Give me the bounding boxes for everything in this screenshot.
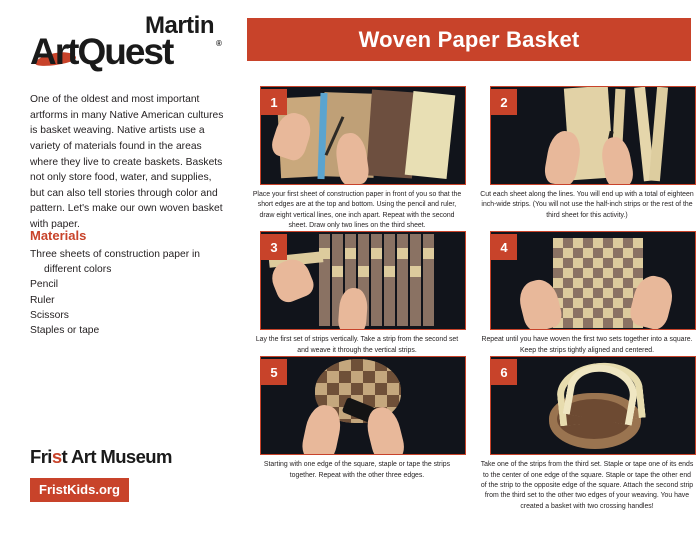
woven-cell: [613, 268, 623, 278]
woven-cell: [613, 308, 623, 318]
woven-cell: [573, 318, 583, 328]
woven-cell: [633, 268, 643, 278]
woven-cell: [623, 278, 633, 288]
woven-cell: [553, 248, 563, 258]
woven-cell: [583, 258, 593, 268]
step-number-badge: 1: [261, 89, 287, 115]
horizontal-paper-strip: [319, 266, 330, 277]
horizontal-paper-strip: [345, 248, 356, 259]
woven-cell: [363, 371, 375, 383]
museum-name-accent: s: [52, 446, 62, 467]
museum-name-part2: t Art Museum: [62, 446, 172, 467]
woven-cell: [613, 288, 623, 298]
woven-cell: [583, 268, 593, 278]
woven-cell: [583, 238, 593, 248]
woven-cell: [375, 395, 387, 407]
woven-cell: [375, 371, 387, 383]
woven-cell: [633, 258, 643, 268]
woven-cell: [633, 238, 643, 248]
photo-scene-2: [491, 87, 695, 184]
woven-cell: [623, 238, 633, 248]
woven-cell: [327, 359, 339, 371]
woven-cell: [387, 395, 399, 407]
woven-cell: [593, 248, 603, 258]
horizontal-paper-strip: [332, 266, 343, 277]
horizontal-paper-strip: [358, 266, 369, 277]
woven-cell: [593, 288, 603, 298]
woven-cell: [613, 318, 623, 328]
paper-sheet: [405, 91, 456, 179]
woven-cell: [351, 359, 363, 371]
logo-artquest-wrap: ArtQuest ®: [30, 33, 230, 73]
woven-cell: [363, 383, 375, 395]
horizontal-paper-strip: [371, 248, 382, 259]
hand: [337, 288, 368, 331]
step-card-3: 3 Lay the first set of strips vertically…: [246, 231, 468, 356]
woven-cell: [387, 371, 399, 383]
activity-sheet: Martin ArtQuest ® One of the oldest and …: [0, 0, 700, 541]
step-caption: Starting with one edge of the square, st…: [250, 460, 464, 481]
woven-cell: [553, 268, 563, 278]
horizontal-paper-strip: [332, 248, 343, 259]
photo-scene-1: [261, 87, 465, 184]
woven-cell: [563, 278, 573, 288]
horizontal-paper-strip: [397, 266, 408, 277]
horizontal-paper-strip: [384, 248, 395, 259]
material-item: different colors: [30, 262, 225, 277]
woven-cell: [375, 359, 387, 371]
step-photo-2: 2: [490, 86, 696, 185]
woven-cell: [363, 359, 375, 371]
photo-scene-5: [261, 357, 465, 454]
material-item: Ruler: [30, 293, 225, 308]
woven-cell: [613, 238, 623, 248]
material-item: Staples or tape: [30, 323, 225, 338]
woven-cell: [573, 248, 583, 258]
woven-cell: [339, 383, 351, 395]
woven-cell: [563, 268, 573, 278]
step-caption: Take one of the strips from the third se…: [480, 460, 694, 512]
woven-cell: [563, 298, 573, 308]
step-caption: Lay the first set of strips vertically. …: [250, 335, 464, 356]
page-title: Woven Paper Basket: [247, 18, 691, 61]
woven-cell: [573, 238, 583, 248]
woven-cell: [623, 258, 633, 268]
woven-cell: [593, 308, 603, 318]
woven-cell: [399, 371, 401, 383]
intro-paragraph: One of the oldest and most important art…: [30, 92, 225, 233]
woven-cell: [603, 278, 613, 288]
horizontal-paper-strip: [423, 248, 434, 259]
woven-cell: [583, 318, 593, 328]
materials-list: Three sheets of construction paper in di…: [30, 247, 225, 338]
woven-cell: [613, 258, 623, 268]
woven-cell: [553, 238, 563, 248]
fristkids-url-badge[interactable]: FristKids.org: [30, 478, 129, 502]
left-column: Martin ArtQuest ® One of the oldest and …: [0, 0, 240, 541]
step-photo-1: 1: [260, 86, 466, 185]
step-number-badge: 3: [261, 234, 287, 260]
steps-grid: 1 Place your first sheet of const: [246, 86, 700, 512]
woven-cell: [613, 278, 623, 288]
woven-cell: [603, 288, 613, 298]
woven-cell: [583, 248, 593, 258]
step-photo-5: 5: [260, 356, 466, 455]
woven-cell: [583, 298, 593, 308]
woven-cell: [613, 298, 623, 308]
horizontal-paper-strip: [358, 248, 369, 259]
woven-cell: [553, 278, 563, 288]
woven-cell: [573, 278, 583, 288]
registered-trademark-icon: ®: [216, 39, 222, 48]
woven-cell: [351, 371, 363, 383]
woven-cell: [387, 359, 399, 371]
woven-cell: [339, 419, 351, 423]
woven-cell: [573, 298, 583, 308]
woven-cell: [593, 268, 603, 278]
woven-cell: [623, 268, 633, 278]
step-row: 1 Place your first sheet of const: [246, 86, 700, 231]
woven-cell: [399, 419, 401, 423]
step-card-6: 6 Take one of the strips from the third …: [476, 356, 698, 512]
woven-cell: [603, 308, 613, 318]
horizontal-paper-strip: [345, 266, 356, 277]
woven-cell: [603, 238, 613, 248]
materials-heading: Materials: [30, 228, 86, 243]
woven-cell: [563, 318, 573, 328]
woven-cell: [603, 318, 613, 328]
horizontal-paper-strip: [423, 266, 434, 277]
horizontal-paper-strip: [371, 266, 382, 277]
woven-cell: [563, 308, 573, 318]
woven-cell: [633, 248, 643, 258]
woven-cell: [399, 395, 401, 407]
woven-cell: [563, 288, 573, 298]
woven-cell: [593, 238, 603, 248]
step-row: 5 Starting with one edge of the square, …: [246, 356, 700, 512]
horizontal-paper-strip: [410, 248, 421, 259]
photo-scene-6: [491, 357, 695, 454]
woven-cell: [399, 383, 401, 395]
horizontal-paper-strip: [384, 266, 395, 277]
step-number-badge: 6: [491, 359, 517, 385]
woven-cell: [327, 383, 339, 395]
woven-cell: [563, 238, 573, 248]
woven-cell: [603, 298, 613, 308]
paper-strip: [649, 87, 668, 182]
material-item: Pencil: [30, 277, 225, 292]
museum-name-part1: Fri: [30, 446, 52, 467]
woven-cell: [593, 278, 603, 288]
woven-cell: [583, 288, 593, 298]
woven-cell: [563, 258, 573, 268]
woven-cell: [399, 359, 401, 371]
woven-cell: [593, 258, 603, 268]
woven-cell: [315, 371, 327, 383]
woven-cell: [603, 258, 613, 268]
photo-scene-4: [491, 232, 695, 329]
material-item: Scissors: [30, 308, 225, 323]
step-card-5: 5 Starting with one edge of the square, …: [246, 356, 468, 512]
woven-cell: [573, 268, 583, 278]
martin-artquest-logo: Martin ArtQuest ®: [30, 14, 230, 76]
step-number-badge: 4: [491, 234, 517, 260]
woven-cell: [583, 308, 593, 318]
step-card-2: 2 Cut each sheet along the lines. You wi…: [476, 86, 698, 231]
material-item: Three sheets of construction paper in: [30, 247, 225, 262]
step-photo-4: 4: [490, 231, 696, 330]
step-row: 3 Lay the first set of strips vertically…: [246, 231, 700, 356]
woven-cell: [593, 298, 603, 308]
photo-scene-3: [261, 232, 465, 329]
woven-cell: [623, 248, 633, 258]
step-caption: Cut each sheet along the lines. You will…: [480, 190, 694, 221]
woven-cell: [603, 268, 613, 278]
woven-cell: [593, 318, 603, 328]
woven-cell: [573, 288, 583, 298]
step-caption: Repeat until you have woven the first tw…: [480, 335, 694, 356]
step-card-4: 4 Repeat until you have woven the first …: [476, 231, 698, 356]
logo-word-artquest: ArtQuest: [30, 33, 172, 72]
woven-cell: [315, 383, 327, 395]
woven-cell: [339, 359, 351, 371]
woven-cell: [563, 248, 573, 258]
woven-cell: [553, 258, 563, 268]
woven-cell: [387, 383, 399, 395]
step-caption: Place your first sheet of construction p…: [250, 190, 464, 231]
horizontal-paper-strip: [410, 266, 421, 277]
horizontal-paper-strip: [397, 248, 408, 259]
right-column: Woven Paper Basket 1: [246, 0, 700, 541]
woven-cell: [399, 407, 401, 419]
woven-cell: [351, 383, 363, 395]
frist-art-museum-logo: Frist Art Museum: [30, 448, 172, 467]
woven-cell: [573, 258, 583, 268]
step-card-1: 1 Place your first sheet of const: [246, 86, 468, 231]
step-number-badge: 5: [261, 359, 287, 385]
woven-cell: [603, 248, 613, 258]
woven-cell: [315, 359, 327, 371]
woven-cell: [339, 371, 351, 383]
woven-cell: [573, 308, 583, 318]
step-photo-6: 6: [490, 356, 696, 455]
woven-cell: [327, 371, 339, 383]
step-photo-3: 3: [260, 231, 466, 330]
step-number-badge: 2: [491, 89, 517, 115]
woven-cell: [613, 248, 623, 258]
woven-cell: [623, 288, 633, 298]
woven-cell: [583, 278, 593, 288]
woven-cell: [375, 383, 387, 395]
